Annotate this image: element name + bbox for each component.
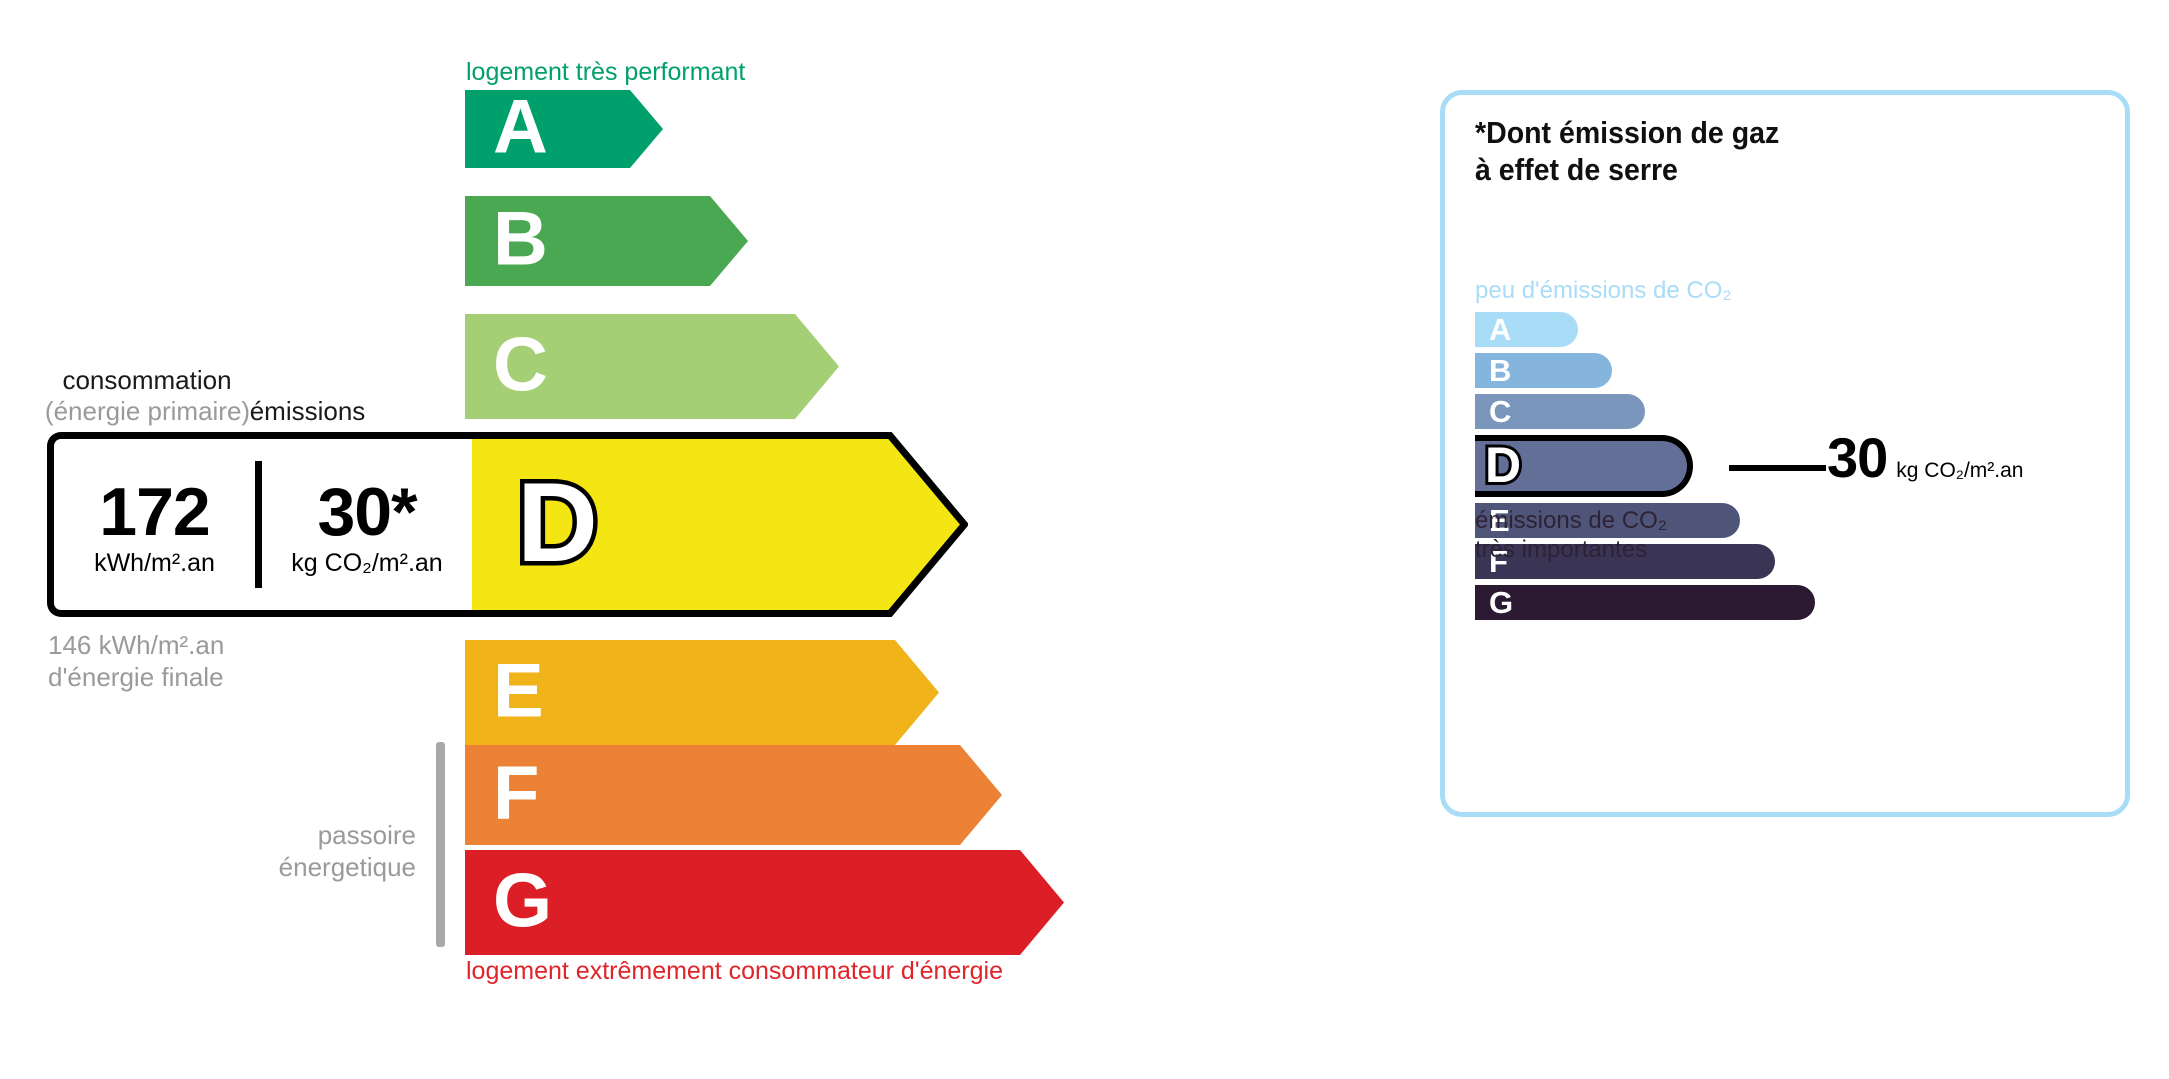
band-arrow-shape: [465, 432, 968, 617]
emissions-unit: kg CO₂/m².an: [291, 549, 442, 578]
emissions-cell: 30* kg CO₂/m².an: [262, 439, 472, 610]
band-arrow-shape: [465, 314, 839, 419]
passoire-energetique-label: passoire énergetique: [160, 820, 416, 883]
emissions-value: 30*: [317, 479, 416, 546]
value-box-divider: [255, 461, 262, 588]
co2-bar-row-c: C: [1475, 394, 1815, 429]
band-arrow-shape: [465, 850, 1064, 955]
energy-band-a: A: [465, 90, 663, 168]
co2-caption-bottom: émissions de CO₂ très importantes: [1475, 507, 1667, 565]
primary-energy-value: 172: [99, 479, 209, 546]
co2-bar-g: G: [1475, 585, 1815, 620]
ladder-caption-bottom: logement extrêmement consommateur d'éner…: [466, 957, 1003, 986]
band-arrow-shape: [465, 90, 663, 168]
co2-letter-g: G: [1489, 586, 1513, 617]
co2-bar-row-b: B: [1475, 353, 1815, 388]
co2-bar-row-d: D30kg CO₂/m².an: [1475, 435, 1815, 497]
final-energy-label: 146 kWh/m².an d'énergie finale: [48, 630, 224, 693]
co2-bars: ABCD30kg CO₂/m².anEFG: [1475, 312, 1815, 626]
energy-band-c: C: [465, 314, 839, 419]
co2-letter-b: B: [1489, 354, 1511, 385]
consumption-label: consommation: [47, 365, 247, 396]
co2-letter-c: C: [1489, 395, 1511, 426]
co2-bar-c: C: [1475, 394, 1645, 429]
passoire-energetique-bracket: [436, 742, 445, 947]
band-arrow-shape: [465, 640, 939, 745]
energy-band-d: D: [465, 432, 968, 617]
energy-band-e: E: [465, 640, 939, 745]
energy-band-g: G: [465, 850, 1064, 955]
co2-callout-leader-line: [1729, 465, 1826, 471]
co2-bar-b: B: [1475, 353, 1612, 388]
co2-letter-d: D: [1485, 440, 1521, 490]
co2-callout-value: 30: [1827, 430, 1887, 486]
co2-bar-row-a: A: [1475, 312, 1815, 347]
co2-bar-a: A: [1475, 312, 1578, 347]
energy-band-f: F: [465, 745, 1002, 845]
co2-letter-a: A: [1489, 313, 1511, 344]
co2-panel-title: *Dont émission de gaz à effet de serre: [1475, 115, 1779, 188]
band-arrow-shape: [465, 745, 1002, 845]
co2-caption-top: peu d'émissions de CO₂: [1475, 277, 1732, 305]
energy-performance-ladder: logement très performant ABCDEFG logemen…: [0, 0, 1400, 1079]
primary-energy-cell: 172 kWh/m².an: [54, 439, 255, 610]
co2-callout-unit: kg CO₂/m².an: [1896, 459, 2023, 483]
consumption-value-box: 172 kWh/m².an 30* kg CO₂/m².an: [47, 432, 472, 617]
co2-bar-d: D: [1475, 435, 1693, 497]
co2-emissions-panel: *Dont émission de gaz à effet de serre p…: [1440, 90, 2130, 817]
primary-energy-unit: kWh/m².an: [94, 549, 215, 578]
ladder-caption-top: logement très performant: [466, 58, 745, 87]
co2-bar-row-g: G: [1475, 585, 1815, 620]
co2-callout: 30kg CO₂/m².an: [1827, 430, 2023, 486]
emissions-label: émissions: [215, 396, 400, 427]
energy-band-b: B: [465, 196, 748, 286]
band-arrow-shape: [465, 196, 748, 286]
